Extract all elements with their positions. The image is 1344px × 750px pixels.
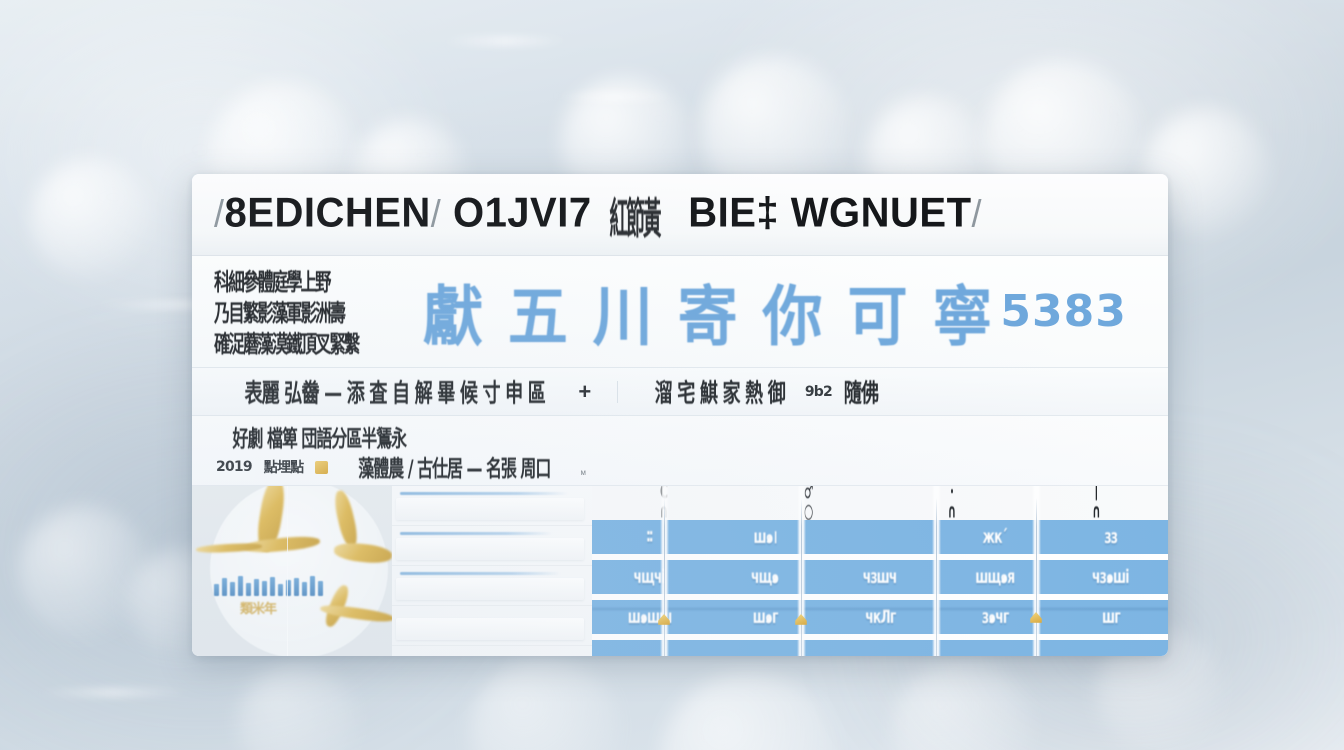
- list-item[interactable]: [392, 526, 592, 566]
- gold-chip-icon: [315, 461, 328, 474]
- header-slash-right: /: [972, 192, 983, 235]
- table-cell[interactable]: чкЛг: [822, 600, 937, 634]
- toolbar-divider: [617, 381, 618, 403]
- column-header[interactable]: ♂ ○: [736, 486, 880, 520]
- cell-value: жк´: [983, 526, 1007, 548]
- toolbar: 表麗 弘齤 — 添 査 自 解 畢 候 寸 申 區 + 溜 宅 鯕 家 熱 御 …: [192, 368, 1168, 416]
- column-header[interactable]: 丨 ∩: [1024, 486, 1168, 520]
- header-smear-glyphs: 紅節黃: [609, 185, 659, 247]
- header-slash-mid: /: [431, 192, 442, 235]
- illustration-disc: [210, 486, 388, 656]
- table-cell[interactable]: жк´: [938, 520, 1053, 554]
- page-title: 獻 五 川 寄 你 可 寧: [423, 265, 994, 359]
- column-header-label: · ∩: [948, 486, 956, 522]
- mini-bar: [262, 581, 267, 596]
- cell-value: ш๑г: [752, 602, 777, 631]
- background-canvas: /8EDICHEN/ O1JVI7紅節黃 BIE‡ WGNUET/ 科細參體庭學…: [0, 0, 1344, 750]
- table-cell[interactable]: зз: [1053, 520, 1168, 554]
- cell-value: чзшч: [863, 566, 897, 588]
- column-header-label: ♂ ○: [804, 486, 813, 522]
- header-slash-left: /: [214, 192, 225, 235]
- table-cell[interactable]: [822, 520, 937, 554]
- table-cell[interactable]: чзшч: [822, 560, 937, 594]
- mini-bar: [294, 578, 299, 596]
- mini-bar: [278, 584, 283, 596]
- filter-line-primary[interactable]: 好劇 檔箄 団語分區半鵟永: [216, 422, 1140, 452]
- table-cell[interactable]: [1053, 640, 1168, 656]
- header-word-bold-1: 8EDI: [225, 190, 316, 236]
- table-cell[interactable]: [707, 640, 822, 656]
- list-item[interactable]: [392, 486, 592, 526]
- table-row[interactable]: [592, 640, 1168, 656]
- row-label-plate: [396, 538, 584, 560]
- toolbar-right-tail: 隨佛: [844, 374, 878, 409]
- bokeh-circle: [892, 660, 1032, 750]
- title-glyph-line-3: 確浞蘑藻漠鐵頂叉緊繫: [214, 326, 358, 360]
- main-panel: /8EDICHEN/ O1JVI7紅節黃 BIE‡ WGNUET/ 科細參體庭學…: [192, 174, 1168, 656]
- toolbar-left-label: 表麗 弘齤 — 添 査 自 解 畢 候 寸 申 區: [244, 374, 545, 409]
- filter-secondary-label: 藻體農 / 古仕居 — 名張 周口: [359, 451, 551, 483]
- mini-bar: [254, 579, 259, 596]
- filter-primary-label: 好劇 檔箄 団語分區半鵟永: [233, 421, 407, 453]
- bokeh-streak: [556, 92, 676, 101]
- header-word-outline-3: WGNUET: [791, 190, 972, 236]
- column-header[interactable]: · ∩: [880, 486, 1024, 520]
- bokeh-circle: [30, 158, 152, 280]
- row-label-column: [392, 486, 592, 656]
- row-label-bar: [400, 532, 552, 535]
- table-row[interactable]: чщчі чщ๑ чзшч шщ๑я чз๑ші: [592, 560, 1168, 594]
- table-row[interactable]: ш๑шш ш๑г чкЛг з๑чг шг: [592, 600, 1168, 634]
- title-glyph-line-2: 乃目繁影藻軍影洲壽: [214, 295, 358, 329]
- mini-bar: [318, 581, 323, 596]
- illustration-thumbnail[interactable]: 類米年: [192, 486, 392, 656]
- table-cell[interactable]: ш๑г: [707, 600, 822, 634]
- column-header[interactable]: C ∩: [592, 486, 736, 520]
- panel-header: /8EDICHEN/ O1JVI7紅節黃 BIE‡ WGNUET/: [192, 174, 1168, 256]
- mini-bar: [214, 584, 219, 596]
- list-item[interactable]: [392, 566, 592, 606]
- illustration-caption: 類米年: [240, 598, 276, 617]
- mini-bar: [238, 576, 243, 596]
- bokeh-circle: [238, 664, 358, 750]
- list-item[interactable]: [392, 606, 592, 646]
- title-glyph-block: 科細參體庭學上野 乃目繁影藻軍影洲壽 確浞蘑藻漠鐵頂叉緊繫: [214, 266, 399, 358]
- mini-bar: [310, 576, 315, 596]
- row-label-bar: [400, 572, 560, 575]
- cell-value: ш๑।: [753, 522, 776, 551]
- cell-value: чз๑ші: [1092, 562, 1129, 591]
- row-label-plate: [396, 578, 584, 600]
- mini-bar: [230, 582, 235, 596]
- cell-value: шщ๑я: [976, 562, 1015, 591]
- data-table: C ∩ ♂ ○ · ∩ 丨 ∩ ∶∶ ш๑। жк´ зз чщчі чщ๑ ч…: [592, 486, 1168, 656]
- header-word-bold-3: BIE‡: [688, 190, 779, 236]
- mini-bar: [270, 577, 275, 596]
- toolbar-right-code: 9b2: [805, 384, 832, 400]
- header-word-bold-2: 1JVI7: [485, 190, 592, 236]
- header-title: /8EDICHEN/ O1JVI7紅節黃 BIE‡ WGNUET/: [214, 190, 982, 239]
- filter-secondary-small: 點埋點: [264, 457, 304, 477]
- table-cell[interactable]: [822, 640, 937, 656]
- toolbar-right-label: 溜 宅 鯕 家 熱 御: [655, 374, 785, 409]
- bokeh-circle: [660, 672, 840, 750]
- table-cell[interactable]: шг: [1053, 600, 1168, 634]
- add-button[interactable]: +: [578, 379, 591, 405]
- table-cell[interactable]: [938, 640, 1053, 656]
- title-band: 科細參體庭學上野 乃目繁影藻軍影洲壽 確浞蘑藻漠鐵頂叉緊繫 獻 五 川 寄 你 …: [192, 256, 1168, 368]
- panel-body: 類米年: [192, 486, 1168, 656]
- cell-value: з๑чг: [982, 602, 1009, 631]
- cell-value: ∶∶: [647, 526, 653, 548]
- table-cell[interactable]: шщ๑я: [938, 560, 1053, 594]
- row-label-plate: [396, 498, 584, 520]
- table-cell[interactable]: ∶∶: [592, 520, 707, 554]
- mini-bar-chart: [214, 574, 323, 596]
- row-label-plate: [396, 618, 584, 640]
- mini-bar: [246, 583, 251, 596]
- row-highlight-streak: [592, 608, 1168, 610]
- table-cell[interactable]: ш๑।: [707, 520, 822, 554]
- bokeh-streak: [38, 688, 188, 697]
- bokeh-streak: [440, 36, 570, 46]
- column-header-label: 丨 ∩: [1091, 486, 1101, 522]
- cell-value: чщчі: [634, 566, 665, 588]
- table-cell[interactable]: чз๑ші: [1053, 560, 1168, 594]
- table-cell[interactable]: чщчі: [592, 560, 707, 594]
- filter-row: 好劇 檔箄 団語分區半鵟永 2019 點埋點 藻體農 / 古仕居 — 名張 周口…: [192, 416, 1168, 486]
- title-number-badge: 5383: [1000, 286, 1126, 337]
- table-row[interactable]: ∶∶ ш๑। жк´ зз: [592, 520, 1168, 554]
- mini-bar: [222, 578, 227, 596]
- bokeh-circle: [470, 656, 620, 750]
- filter-year-code: 2019: [216, 459, 252, 475]
- table-cell[interactable]: [592, 640, 707, 656]
- table-cell[interactable]: ш๑шш: [592, 600, 707, 634]
- toolbar-left-group[interactable]: 表麗 弘齤 — 添 査 自 解 畢 候 寸 申 區 +: [220, 377, 591, 407]
- cell-value: зз: [1104, 526, 1117, 548]
- illustration-divider: [287, 486, 288, 656]
- row-label-bar: [400, 492, 568, 495]
- column-header-label: C ∩: [660, 486, 668, 522]
- header-word-outline-1: CHEN: [315, 190, 430, 236]
- title-glyph-line-1: 科細參體庭學上野: [214, 264, 358, 298]
- toolbar-right-group[interactable]: 溜 宅 鯕 家 熱 御 9b2 隨佛: [644, 377, 881, 407]
- table-cell[interactable]: чщ๑: [707, 560, 822, 594]
- header-word-outline-2: O: [453, 190, 485, 236]
- bokeh-circle: [18, 506, 150, 638]
- filter-line-secondary[interactable]: 2019 點埋點 藻體農 / 古仕居 — 名張 周口 ᴹ: [216, 452, 1140, 482]
- filter-secondary-superscript: ᴹ: [581, 469, 586, 482]
- cell-value: чщ๑: [751, 562, 778, 591]
- table-header-row: C ∩ ♂ ○ · ∩ 丨 ∩: [592, 486, 1168, 520]
- mini-bar: [302, 582, 307, 596]
